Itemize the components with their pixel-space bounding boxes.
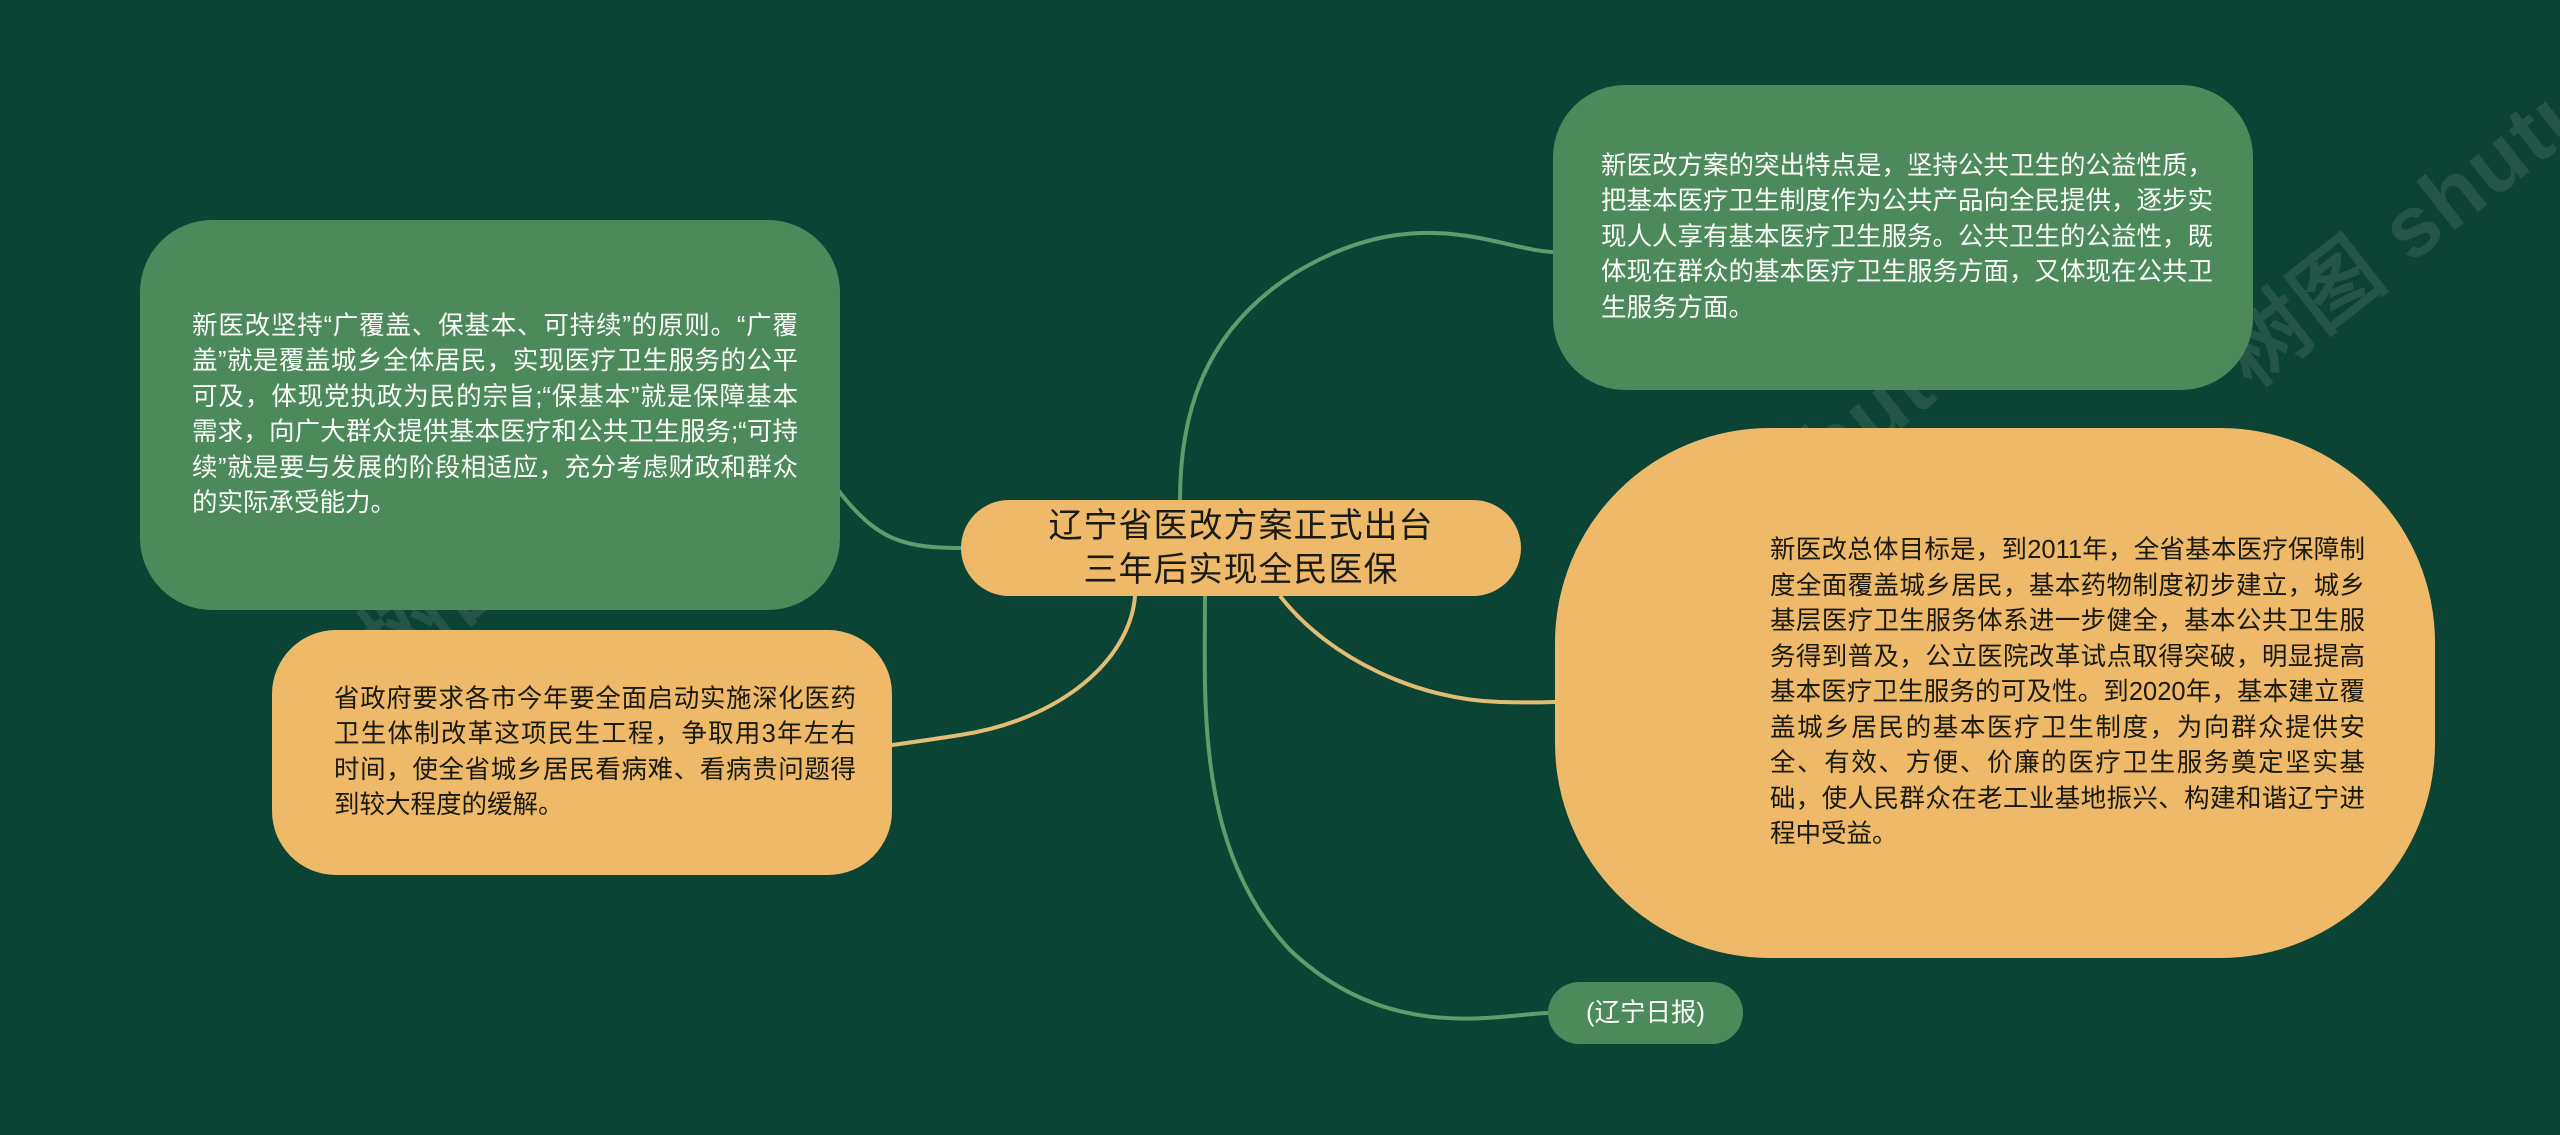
mindmap-canvas: 树图 shutu.cn 树图 shutu.cn 树图 shutu.cn 新医改坚… xyxy=(0,0,2560,1135)
branch-node-right-orange[interactable]: 新医改总体目标是，到2011年，全省基本医疗保障制度全面覆盖城乡居民，基本药物制… xyxy=(1555,428,2435,958)
branch-label-right-orange: 新医改总体目标是，到2011年，全省基本医疗保障制度全面覆盖城乡居民，基本药物制… xyxy=(1770,533,2365,853)
edge-center-to-right-orange xyxy=(1280,596,1600,702)
branch-label-left-green: 新医改坚持“广覆盖、保基本、可持续”的原则。“广覆盖”就是覆盖城乡全体居民，实现… xyxy=(192,309,798,522)
edge-center-to-source xyxy=(1205,596,1548,1019)
central-topic-node[interactable]: 辽宁省医改方案正式出台 三年后实现全民医保 xyxy=(961,500,1521,596)
edge-center-to-top-green xyxy=(1180,233,1553,500)
central-topic-label: 辽宁省医改方案正式出台 三年后实现全民医保 xyxy=(961,504,1521,592)
branch-node-top-green[interactable]: 新医改方案的突出特点是，坚持公共卫生的公益性质，把基本医疗卫生制度作为公共产品向… xyxy=(1553,85,2253,390)
branch-node-left-green[interactable]: 新医改坚持“广覆盖、保基本、可持续”的原则。“广覆盖”就是覆盖城乡全体居民，实现… xyxy=(140,220,840,610)
edge-center-to-bottom-orange xyxy=(860,596,1135,752)
branch-node-bottom-orange[interactable]: 省政府要求各市今年要全面启动实施深化医药卫生体制改革这项民生工程，争取用3年左右… xyxy=(272,630,892,875)
branch-label-bottom-orange: 省政府要求各市今年要全面启动实施深化医药卫生体制改革这项民生工程，争取用3年左右… xyxy=(334,682,856,824)
branch-label-source: (辽宁日报) xyxy=(1548,997,1743,1029)
branch-node-source[interactable]: (辽宁日报) xyxy=(1548,982,1743,1044)
branch-label-top-green: 新医改方案的突出特点是，坚持公共卫生的公益性质，把基本医疗卫生制度作为公共产品向… xyxy=(1601,149,2213,327)
